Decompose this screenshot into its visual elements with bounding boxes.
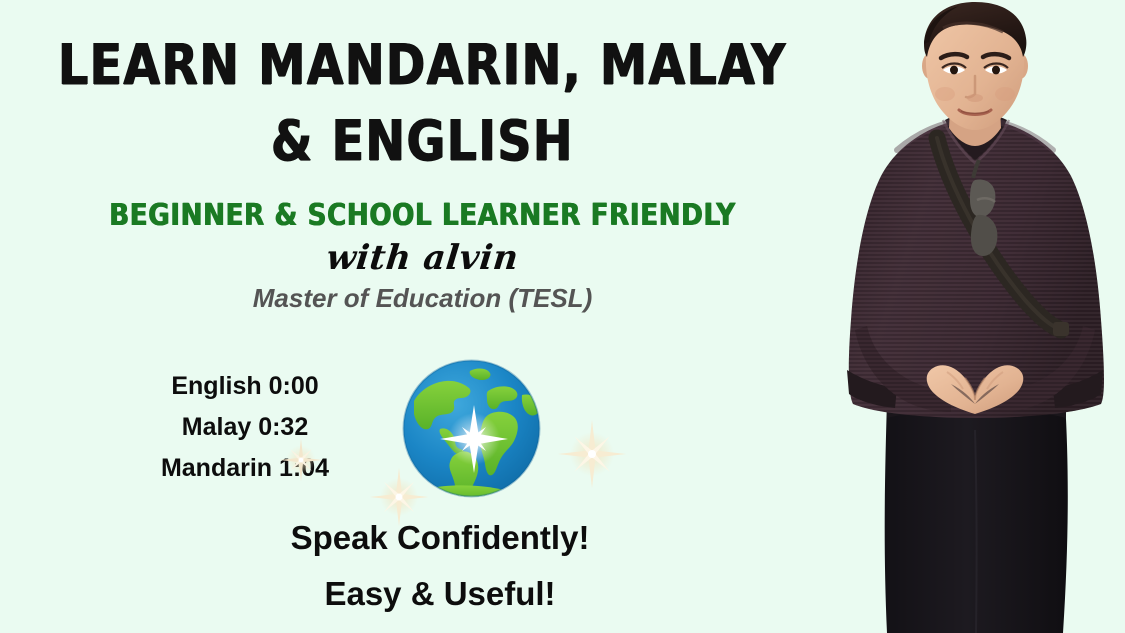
page-title: LEARN MANDARIN, MALAY & ENGLISH — [25, 28, 819, 179]
trousers — [885, 389, 1068, 633]
text-column: LEARN MANDARIN, MALAY & ENGLISH BEGINNER… — [0, 0, 845, 633]
instructor-photo — [825, 0, 1125, 633]
headline-line-1: LEARN MANDARIN, MALAY — [58, 33, 787, 98]
chapter-timestamp-list: English 0:00 Malay 0:32 Mandarin 1:04 — [120, 366, 370, 489]
cta-line-1: Speak Confidently! — [90, 519, 790, 557]
globe-icon — [400, 357, 543, 500]
subheadline: BEGINNER & SCHOOL LEARNER FRIENDLY — [13, 198, 833, 233]
list-item: Mandarin 1:04 — [120, 448, 370, 489]
headline-line-2: & ENGLISH — [25, 104, 819, 180]
presenter-name: with alvin — [0, 238, 847, 278]
list-item: Malay 0:32 — [120, 407, 370, 448]
head — [922, 2, 1028, 130]
list-item: English 0:00 — [120, 366, 370, 407]
presenter-credential: Master of Education (TESL) — [0, 283, 845, 314]
cta-line-2: Easy & Useful! — [90, 575, 790, 613]
promo-thumbnail: LEARN MANDARIN, MALAY & ENGLISH BEGINNER… — [0, 0, 1125, 633]
